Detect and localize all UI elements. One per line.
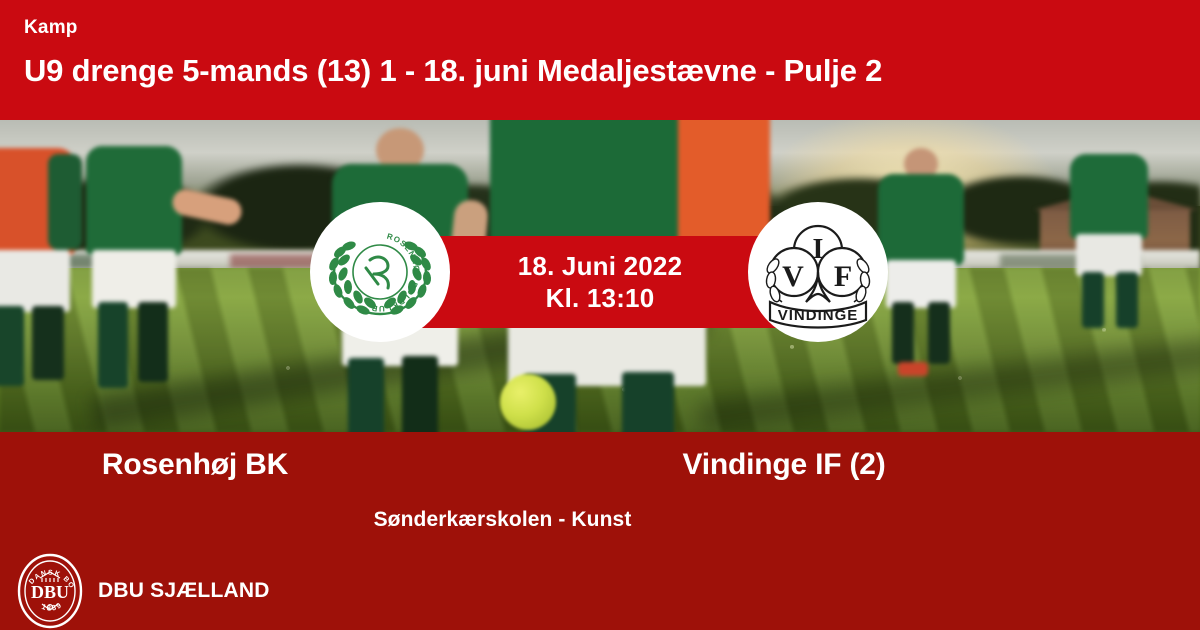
home-club-logo: ROSENHØJ BOLDKLUB — [310, 202, 450, 342]
photo-player-green-left — [86, 142, 216, 382]
footer-panel: Rosenhøj BK Vindinge IF (2) Sønderkærsko… — [0, 432, 1200, 630]
photo-player-orange — [0, 148, 94, 378]
photo-football — [500, 374, 556, 430]
away-club-logo: I V F VINDINGE — [748, 202, 888, 342]
match-datetime-banner: 18. Juni 2022 Kl. 13:10 — [420, 236, 780, 328]
photo-player-far-right — [1060, 144, 1170, 324]
header-kicker: Kamp — [24, 18, 1200, 39]
crest-letter-i: I — [813, 234, 824, 265]
page-title: U9 drenge 5-mands (13) 1 - 18. juni Meda… — [24, 53, 1200, 89]
crest-letter-v: V — [782, 260, 804, 293]
dbu-emblem-icon: DANSK BOLDSPIL UNION 1889 DBU — [16, 552, 84, 630]
crest-letter-f: F — [834, 260, 852, 293]
header-banner: Kamp U9 drenge 5-mands (13) 1 - 18. juni… — [0, 0, 1200, 120]
brand-label: DBU SJÆLLAND — [98, 579, 270, 603]
venue-name: Sønderkærskolen - Kunst — [0, 508, 1200, 532]
away-club-crest-text: VINDINGE — [778, 307, 859, 324]
away-team-name: Vindinge IF (2) — [600, 448, 1200, 482]
match-time: Kl. 13:10 — [546, 282, 655, 315]
vindinge-if-crest-icon: I V F VINDINGE — [756, 210, 880, 334]
brand-lockup: DANSK BOLDSPIL UNION 1889 DBU DBU SJÆLLA… — [16, 552, 270, 630]
team-names-row: Rosenhøj BK Vindinge IF (2) — [0, 448, 1200, 482]
dbu-monogram: DBU — [31, 582, 69, 602]
match-poster: Kamp U9 drenge 5-mands (13) 1 - 18. juni… — [0, 0, 1200, 630]
home-team-name: Rosenhøj BK — [0, 448, 600, 482]
rosenhoj-bk-crest-icon: ROSENHØJ BOLDKLUB — [318, 210, 442, 334]
match-date: 18. Juni 2022 — [518, 250, 682, 283]
